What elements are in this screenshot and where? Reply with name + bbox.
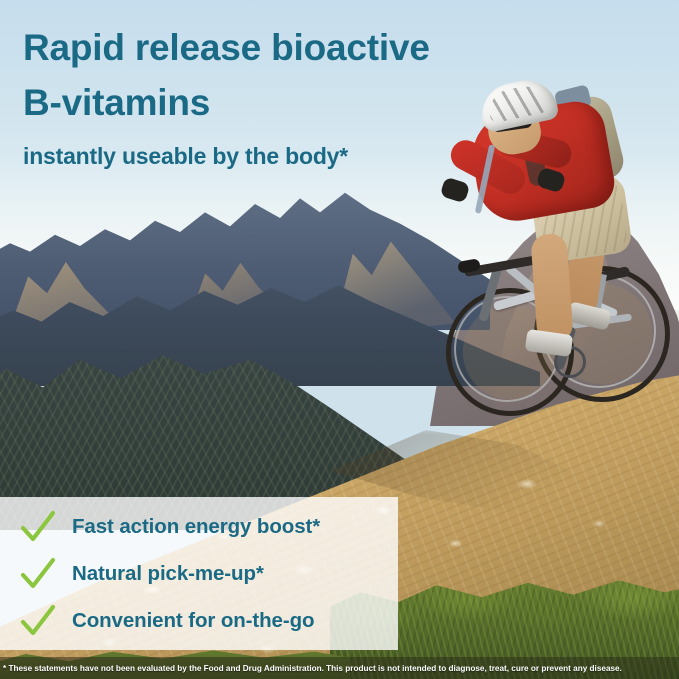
benefit-label: Natural pick-me-up* — [72, 562, 264, 586]
check-icon — [18, 601, 58, 641]
headline-line-2: B-vitamins — [23, 75, 543, 130]
check-icon — [18, 507, 58, 547]
benefit-label: Convenient for on-the-go — [72, 609, 314, 633]
fda-disclaimer-bar: * These statements have not been evaluat… — [0, 657, 679, 679]
rider-glove-left — [440, 176, 471, 203]
check-icon — [18, 554, 58, 594]
benefit-label: Fast action energy boost* — [72, 515, 320, 539]
benefit-row: Convenient for on-the-go — [18, 601, 314, 641]
product-marketing-image: Rapid release bioactive B-vitamins insta… — [0, 0, 679, 679]
rider-near-leg — [530, 233, 573, 343]
fda-disclaimer-text: * These statements have not been evaluat… — [0, 664, 622, 673]
headline-line-1: Rapid release bioactive — [23, 20, 543, 75]
benefits-panel: Fast action energy boost* Natural pick-m… — [0, 497, 398, 650]
benefit-row: Natural pick-me-up* — [18, 554, 264, 594]
headline-subhead: instantly useable by the body* — [23, 136, 543, 176]
headline-block: Rapid release bioactive B-vitamins insta… — [23, 20, 543, 176]
benefit-row: Fast action energy boost* — [18, 507, 320, 547]
